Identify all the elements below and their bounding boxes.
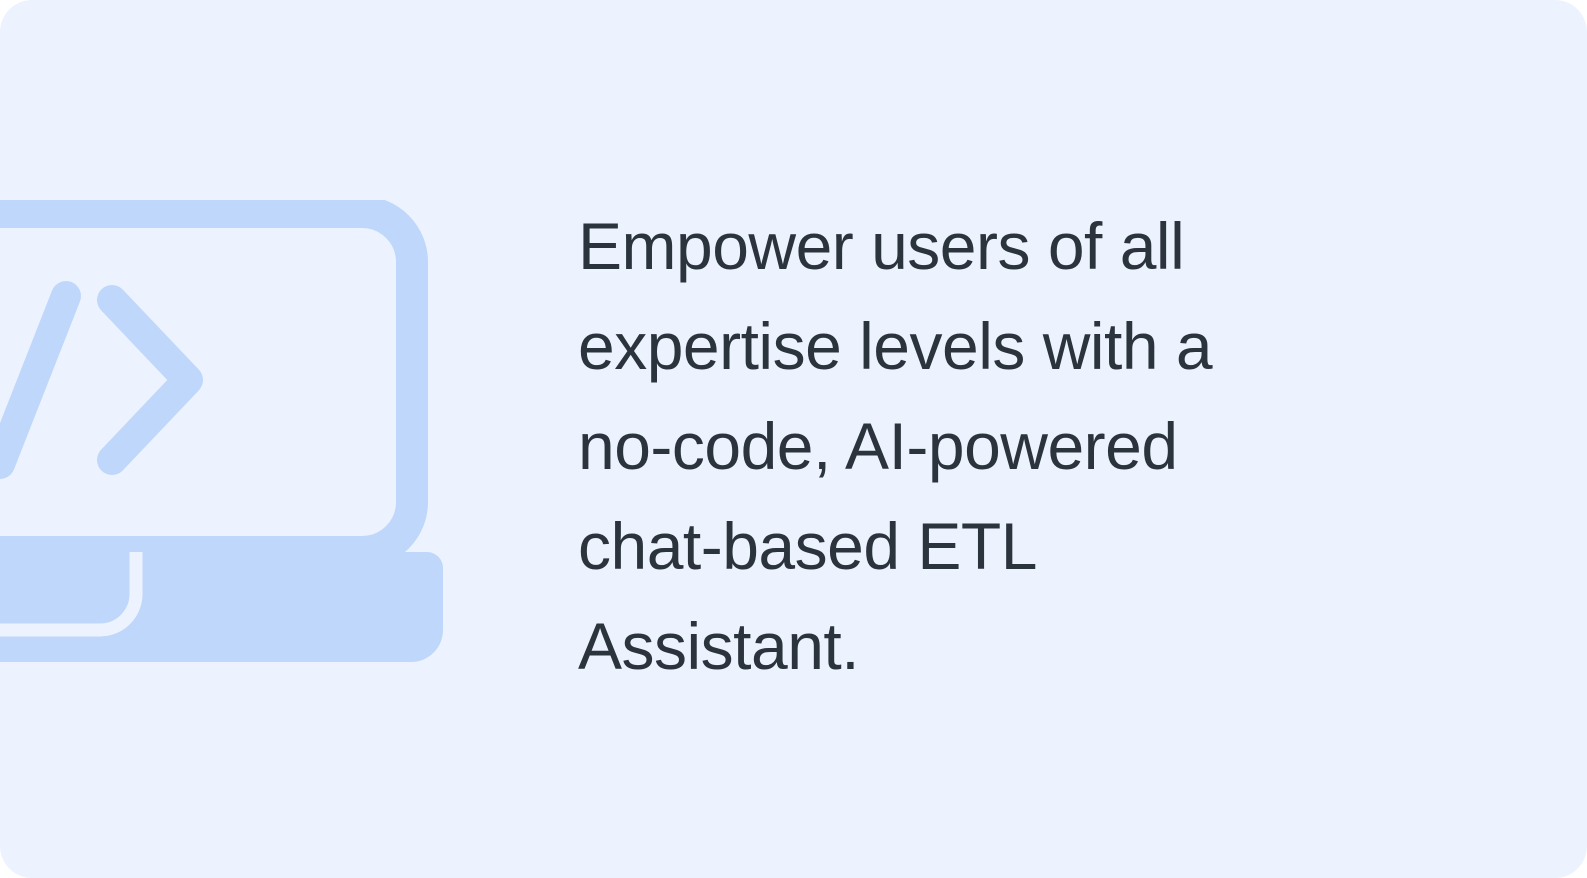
feature-card: Empower users of all expertise levels wi… <box>0 0 1587 878</box>
laptop-base <box>0 552 443 662</box>
laptop-notch <box>0 552 136 630</box>
angle-bracket-right-icon <box>112 300 188 460</box>
laptop-code-icon <box>0 200 444 670</box>
feature-description: Empower users of all expertise levels wi… <box>578 196 1338 696</box>
laptop-screen-frame <box>0 212 412 552</box>
slash-icon <box>0 296 66 464</box>
